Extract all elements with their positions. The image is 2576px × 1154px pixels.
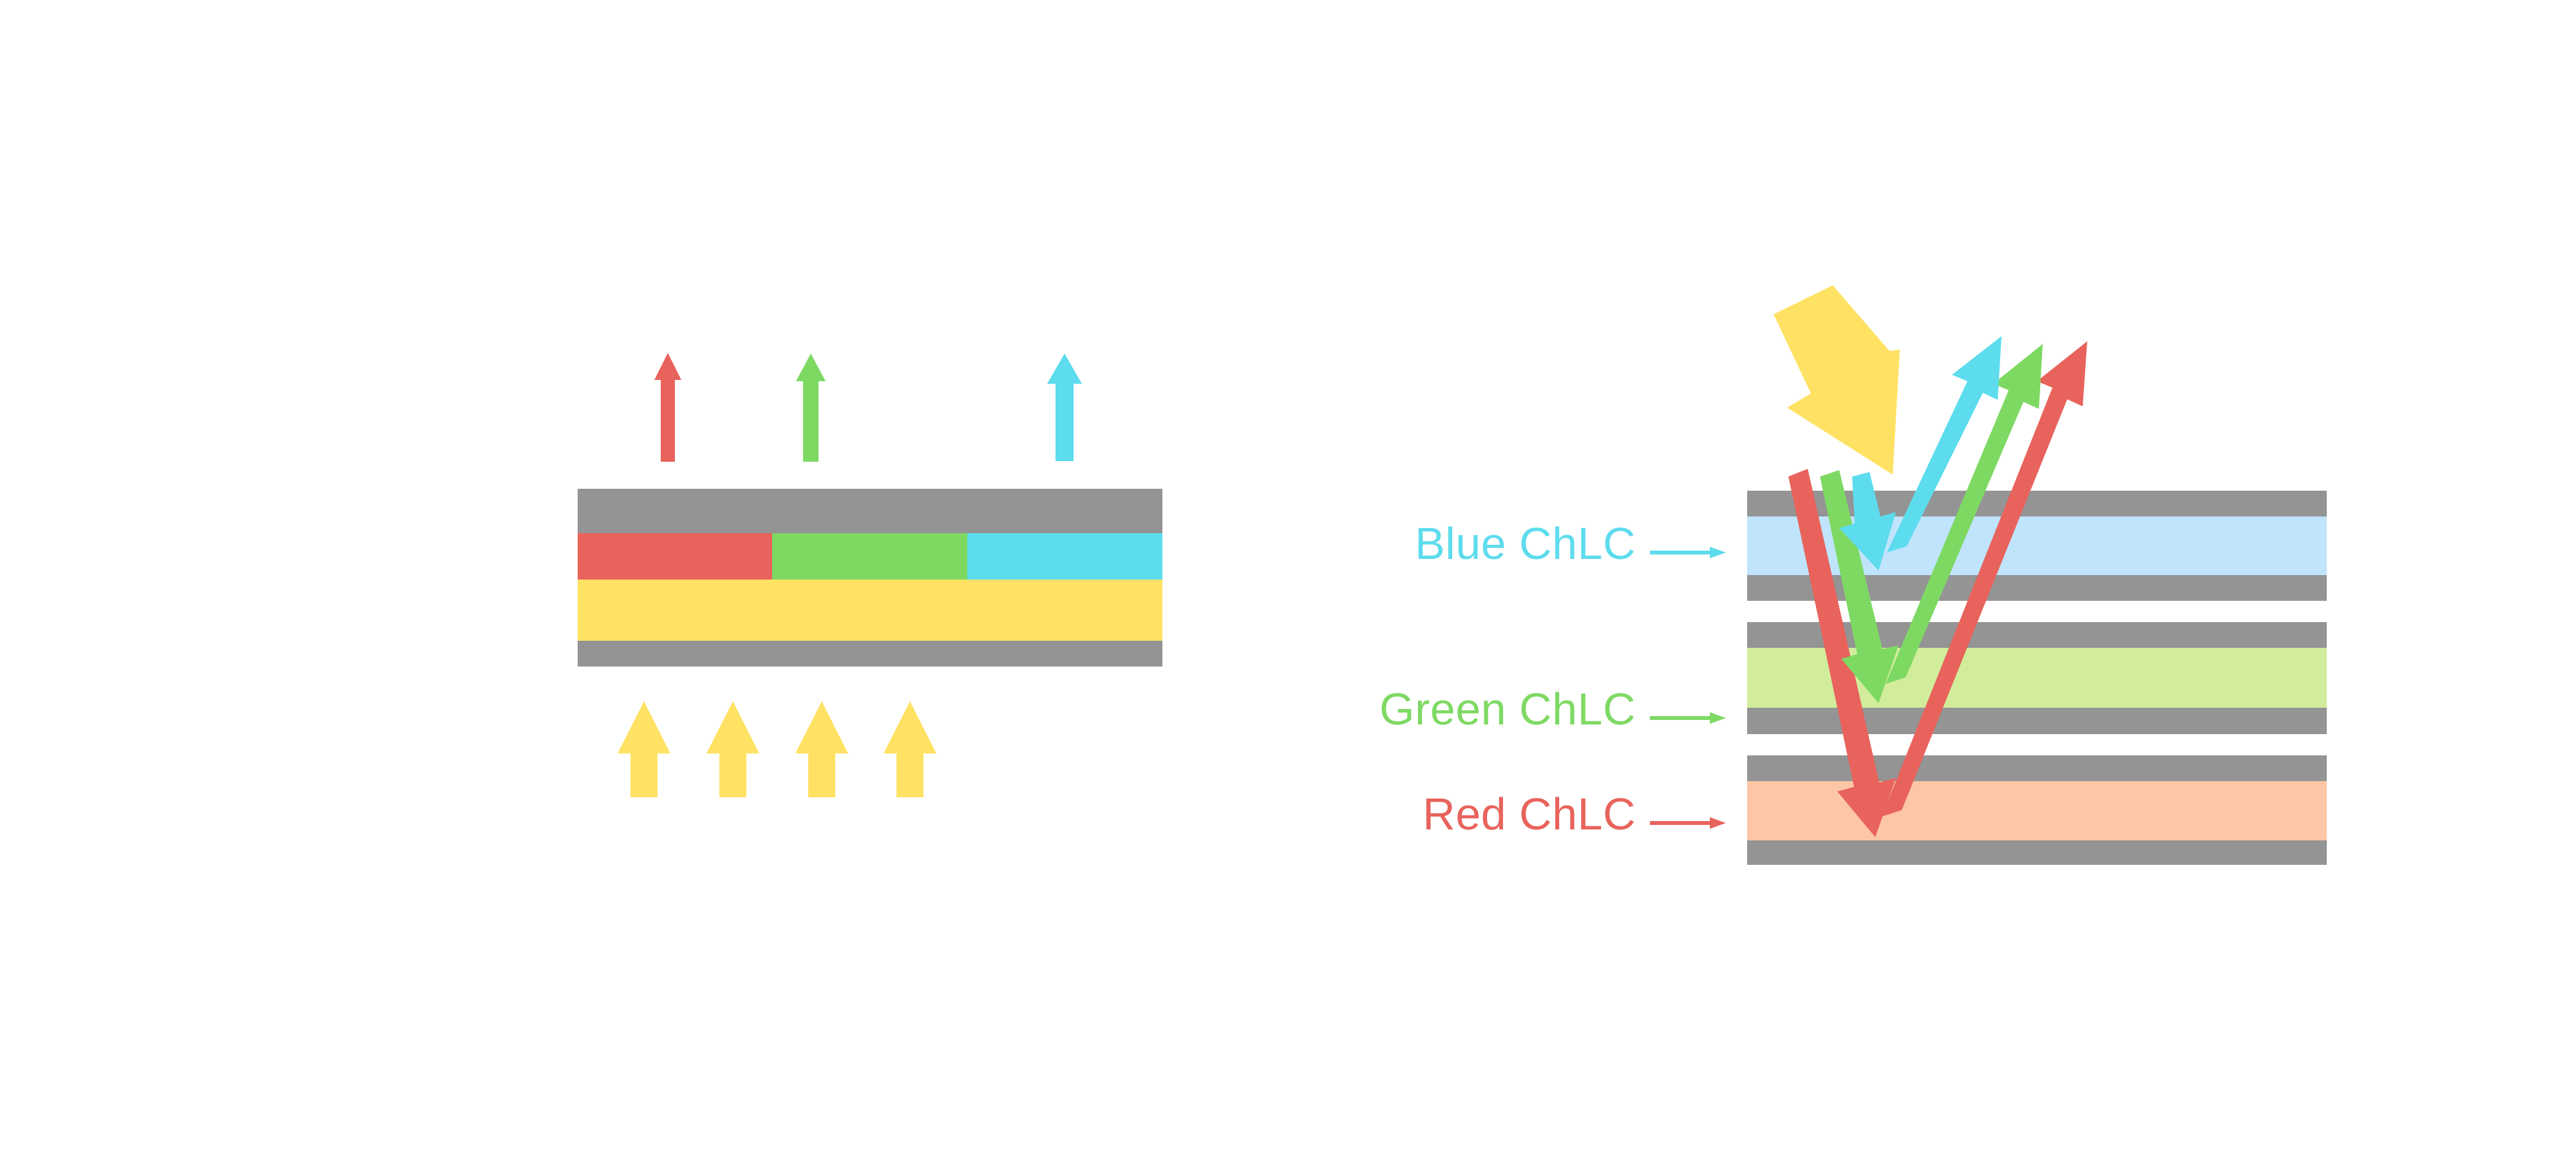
label-red-chlc-text: Red ChLC (1423, 789, 1636, 839)
label-blue-arrow-icon (1650, 547, 1726, 558)
label-blue-chlc: Blue ChLC (1415, 518, 1726, 569)
label-green-arrow-icon (1650, 712, 1726, 724)
label-red-arrow-icon (1650, 817, 1726, 829)
cell-labels: Blue ChLC Green ChLC Red ChLC (0, 0, 2576, 1154)
diagram-canvas: Blue ChLC Green ChLC Red ChLC (0, 0, 2576, 1154)
label-green-chlc-text: Green ChLC (1379, 684, 1636, 734)
label-blue-chlc-text: Blue ChLC (1415, 518, 1636, 569)
label-red-chlc: Red ChLC (1423, 789, 1726, 839)
label-green-chlc: Green ChLC (1379, 684, 1726, 734)
